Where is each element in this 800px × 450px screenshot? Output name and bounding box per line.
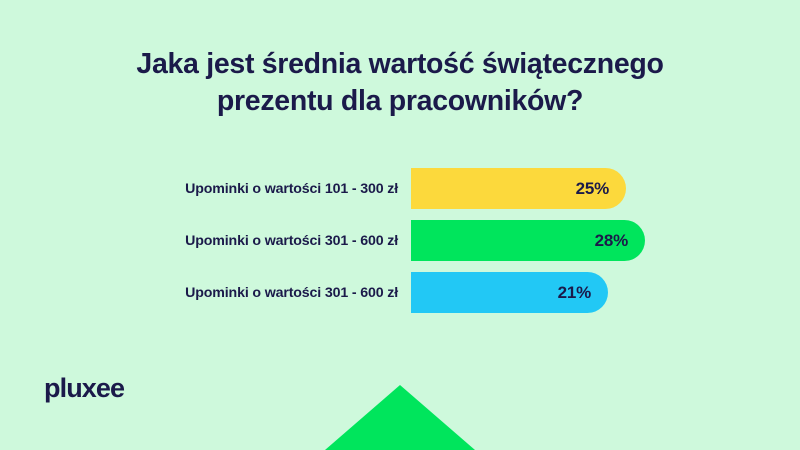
bar-label: Upominki o wartości 301 - 600 zł — [0, 285, 411, 301]
bar-fill: 28% — [411, 220, 645, 261]
triangle-decoration — [325, 385, 475, 450]
bar-value: 28% — [595, 231, 628, 251]
bar-value: 25% — [576, 179, 609, 199]
bar-track: 28% — [411, 220, 800, 261]
bar-label: Upominki o wartości 301 - 600 zł — [0, 233, 411, 249]
bar-track: 25% — [411, 168, 800, 209]
bar-label: Upominki o wartości 101 - 300 zł — [0, 181, 411, 197]
bar-chart: Upominki o wartości 101 - 300 zł 25% Upo… — [0, 168, 800, 324]
bar-track: 21% — [411, 272, 800, 313]
bar-row: Upominki o wartości 101 - 300 zł 25% — [0, 168, 800, 209]
bar-value: 21% — [558, 283, 591, 303]
bar-fill: 21% — [411, 272, 608, 313]
page-title: Jaka jest średnia wartość świątecznego p… — [0, 46, 800, 120]
bar-row: Upominki o wartości 301 - 600 zł 28% — [0, 220, 800, 261]
title-line-1: Jaka jest średnia wartość świątecznego — [60, 46, 740, 83]
pluxee-logo: pluxee — [44, 375, 124, 402]
bar-row: Upominki o wartości 301 - 600 zł 21% — [0, 272, 800, 313]
infographic-poster: Jaka jest średnia wartość świątecznego p… — [0, 0, 800, 450]
title-line-2: prezentu dla pracowników? — [60, 83, 740, 120]
bar-fill: 25% — [411, 168, 626, 209]
